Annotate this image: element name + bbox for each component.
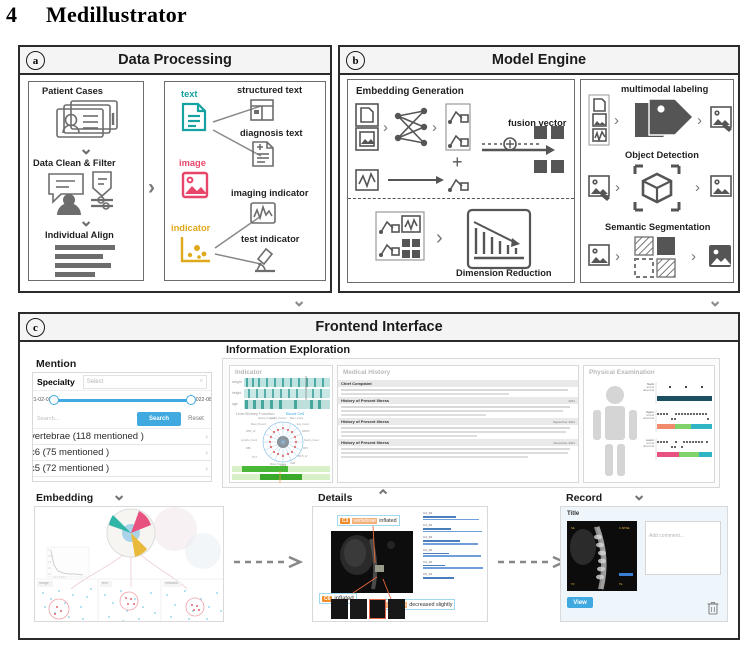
panel-a-badge: a (26, 51, 45, 70)
indicator-title: Indicator (235, 369, 262, 376)
mention-item-1-label: c6 (75 mentioned ) (32, 447, 109, 458)
structured-text-icon (249, 98, 275, 122)
prob-row: C4_S0 (423, 511, 487, 520)
modality-image-label: image (179, 158, 206, 168)
exam-row-2-abnormal: abnormal (640, 445, 654, 448)
figure-root: 4Medillustrator a Data Processing Patien… (0, 0, 750, 645)
embedding-visualization: 1.00.80.6 0.40.2 1 2 3 4 5 6 7 (35, 507, 224, 622)
record-card-title: Title (567, 511, 579, 517)
prob-row-4-label: C4_S0 (423, 560, 487, 564)
history-3-heading: History of Present Illness (341, 440, 389, 445)
svg-text:›: › (615, 248, 620, 265)
svg-text:+: + (452, 152, 463, 172)
indicator-row-0-label: weight (232, 380, 242, 384)
svg-text:RBC: RBC (246, 447, 251, 450)
connector-chevron-left: ⌄ (292, 292, 306, 309)
prob-row: C4_S0 (423, 548, 487, 557)
indicator-card: Indicator weight height (229, 365, 333, 483)
record-panel: Title SEC-SPINE TRTE (560, 506, 728, 622)
mention-panel: Specialty Select ˅ 2021-02-02 2022-08-11… (32, 372, 212, 482)
svg-text:Neutro_Percent: Neutro_Percent (258, 417, 275, 420)
pipeline-chevron-1: ⌄ (79, 212, 93, 229)
section-number: 4 (6, 2, 46, 28)
waveform-icon (249, 201, 277, 225)
list-item[interactable]: c5 (72 mentioned ) › (32, 461, 212, 477)
panel-b-divider (348, 198, 574, 199)
prob-row: C4_S0 (423, 523, 487, 532)
details-collapse-icon[interactable]: ⌃ (376, 488, 390, 505)
specialty-label: Specialty (33, 377, 75, 387)
output-1-label: diagnosis text (240, 128, 303, 138)
date-range-slider[interactable]: 2021-02-02 2022-08-11 (33, 391, 211, 409)
indicator-row-1-label: height (232, 391, 241, 395)
panel-data-processing: a Data Processing Patient Cases ⌄ Data C… (18, 45, 332, 293)
svg-text:Baso_Count: Baso_Count (290, 417, 303, 420)
task-1-label: Object Detection (625, 150, 699, 160)
view-button[interactable]: View (567, 597, 593, 608)
specialty-value: Select (87, 379, 104, 385)
exam-row-0-chart (656, 382, 712, 404)
history-2-heading: History of Present Illness (341, 419, 389, 424)
history-0-body (338, 387, 578, 397)
trash-icon[interactable] (707, 601, 719, 614)
pipeline-to-modalities-chevron: › (148, 177, 155, 198)
information-exploration-panel: Indicator weight height (222, 358, 720, 488)
panel-a-title: Data Processing (118, 52, 232, 68)
history-3-body (338, 446, 578, 460)
record-collapse-icon[interactable]: ⌄ (632, 486, 646, 503)
search-row: Search... Search Reset (33, 410, 211, 429)
svg-text:MPV: MPV (303, 447, 309, 450)
svg-text:Baso_Percent: Baso_Percent (251, 423, 266, 426)
scatter-icon (179, 235, 213, 265)
spine-mri-graphic: SEC-SPINE TRTE (567, 521, 637, 591)
history-2-date: September 2021 (553, 420, 575, 424)
pipeline-step-2-label: Individual Align (45, 230, 114, 240)
exam-row-1-abnormal: abnormal (640, 417, 654, 420)
svg-text:›: › (383, 119, 388, 136)
mention-item-2-label: c5 (72 mentioned ) (32, 463, 109, 474)
body-figure-icon (592, 384, 638, 478)
exam-row-2-chart (656, 438, 712, 460)
radial-indicator-chart: Lymph_PercentBaso_Count Eos_CountRDWS Ne… (240, 416, 326, 468)
svg-text:TE: TE (619, 582, 623, 586)
slider-handle-right[interactable] (186, 395, 196, 405)
svg-text:›: › (691, 248, 696, 265)
green-bar-row-1 (232, 474, 330, 480)
semantic-segmentation-icons: › › (587, 235, 733, 279)
prob-row-2-label: C4_S0 (423, 535, 487, 539)
mention-heading: Mention (36, 358, 76, 370)
thumbnail-selected[interactable] (369, 599, 386, 619)
scatter-label-indicator: indicator (165, 581, 179, 585)
panel-c-header: c Frontend Interface (20, 314, 738, 342)
chevron-right-icon: › (205, 464, 208, 473)
svg-text:›: › (695, 179, 700, 196)
flow-arrow-1 (234, 556, 304, 568)
history-2-body (338, 425, 578, 439)
image-icon (181, 171, 209, 199)
medical-history-title: Medical History (343, 369, 390, 376)
panel-model-engine: b Model Engine Embedding Generation › › (338, 45, 740, 293)
pipeline-step-0-label: Patient Cases (42, 86, 103, 96)
svg-text:Eos_Count: Eos_Count (297, 423, 309, 426)
panel-b-header: b Model Engine (340, 47, 738, 75)
indicator-row-2-label: age (232, 402, 238, 406)
prob-row: C4_S0 (423, 560, 487, 569)
svg-text:SE: SE (571, 526, 575, 530)
exam-row-1-chart (656, 410, 712, 432)
exam-row-0: Neck normal abnormal (640, 382, 712, 392)
fusion-vector-label: fusion vector (508, 118, 566, 128)
embedding-collapse-icon[interactable]: ⌄ (112, 486, 126, 503)
history-3-date: December 2021 (554, 441, 575, 445)
comment-placeholder: Add comment... (649, 533, 684, 539)
svg-text:›: › (436, 227, 443, 249)
flow-arrow-2 (498, 556, 568, 568)
mention-item-0-label: vertebrae (118 mentioned ) (32, 431, 144, 442)
svg-text:›: › (697, 112, 702, 129)
svg-text:RDWS: RDWS (302, 430, 310, 433)
svg-text:HCT: HCT (252, 456, 257, 459)
svg-text:TR: TR (571, 582, 575, 586)
task-2-label: Semantic Segmentation (605, 222, 710, 232)
patient-cards-icon (53, 99, 123, 141)
panel-b-badge: b (346, 51, 365, 70)
svg-text:›: › (432, 119, 437, 136)
dimension-reduction-label: Dimension Reduction (456, 268, 552, 278)
exam-row-0-abnormal: abnormal (640, 389, 654, 392)
prob-row-1-label: C4_S0 (423, 523, 487, 527)
svg-text:Lympho_Count: Lympho_Count (241, 439, 257, 442)
record-heading: Record (566, 492, 602, 504)
reset-button[interactable]: Reset (181, 412, 211, 426)
panel-a-header: a Data Processing (20, 47, 330, 75)
prob-row-5-label: C5_S1 (423, 572, 487, 576)
dimension-reduction-icons: › (374, 210, 564, 274)
svg-text:C-SPINE: C-SPINE (619, 526, 630, 530)
probability-list: C4_S0 C4_S0 C4_S0 C4_S0 (423, 511, 487, 580)
modality-connectors (209, 100, 279, 270)
section-heading: 4Medillustrator (6, 2, 187, 28)
connector-chevron-right: ⌄ (708, 292, 722, 309)
history-0-heading: Chief Complaint (341, 381, 372, 386)
thumbnail[interactable] (350, 599, 367, 619)
modality-box: text image indicator (164, 81, 326, 281)
history-1-heading: History of Present Illness (341, 398, 389, 403)
svg-text:MCH_LV: MCH_LV (298, 455, 308, 458)
comment-textarea[interactable]: Add comment... (645, 521, 721, 575)
specialty-row: Specialty Select ˅ (33, 373, 211, 391)
prob-row-3-label: C4_S0 (423, 548, 487, 552)
medical-history-card: Medical History Chief Complaint History … (337, 365, 579, 483)
modality-text-label: text (181, 89, 198, 99)
panel-c-title: Frontend Interface (315, 319, 442, 335)
history-section-header: Chief Complaint (338, 380, 578, 387)
indicator-heatmap-row-2 (244, 400, 330, 409)
indicator-heatmap-row-1 (244, 389, 330, 398)
dashed-arrow-right-icon (498, 556, 568, 568)
mention-list: vertebrae (118 mentioned ) › c6 (75 ment… (32, 429, 212, 477)
microscope-icon (251, 246, 279, 274)
embedding-panel: 1.00.80.6 0.40.2 1 2 3 4 5 6 7 (34, 506, 224, 622)
history-section-header: History of Present Illness September 202… (338, 418, 578, 425)
chevron-right-icon: › (205, 448, 208, 457)
record-mri-image[interactable]: SEC-SPINE TRTE (567, 521, 637, 591)
svg-text:›: › (614, 112, 619, 129)
object-detection-icons: › › (587, 162, 733, 214)
pipeline-step-1-label: Data Clean & Filter (33, 158, 116, 168)
svg-text:HGB: HGB (290, 462, 296, 465)
physical-exam-card: Physical Examination Neck normal abnorma… (583, 365, 715, 483)
clean-filter-icon (47, 170, 129, 216)
multimodal-labeling-icons: › › (587, 95, 733, 147)
details-panel: C3 vertebrae inflated C6 inflated C7 ann… (312, 506, 488, 622)
list-item[interactable]: c6 (75 mentioned ) › (32, 445, 212, 461)
prob-row: C5_S1 (423, 572, 487, 579)
history-1-body (338, 404, 578, 418)
embedding-generation-box: Embedding Generation › › (347, 79, 575, 283)
pipeline-chevron-0: ⌄ (79, 140, 93, 157)
physical-exam-title: Physical Examination (589, 369, 655, 376)
slider-track[interactable] (53, 399, 192, 402)
pipeline-box: Patient Cases ⌄ Data Clean & Filter (28, 81, 144, 281)
task-0-label: multimodal labeling (621, 84, 708, 94)
slider-handle-left[interactable] (49, 395, 59, 405)
details-heading: Details (318, 492, 352, 504)
list-item[interactable]: vertebrae (118 mentioned ) › (32, 429, 212, 445)
history-section-header: History of Present Illness 2021 (338, 397, 578, 404)
thumbnail[interactable] (388, 599, 405, 619)
exam-row-2: Lower normal abnormal (640, 438, 712, 448)
panel-b-title: Model Engine (492, 52, 586, 68)
thumbnail[interactable] (331, 599, 348, 619)
exam-row-1: Upper normal abnormal (640, 410, 712, 420)
history-section-header: History of Present Illness December 2021 (338, 439, 578, 446)
scatter-label-image: image (39, 581, 49, 585)
scatter-label-text: text (102, 581, 108, 585)
panel-c-badge: c (26, 318, 45, 337)
align-bars-icon (55, 244, 119, 278)
indicator-heatmap-row-0 (244, 378, 330, 387)
text-doc-icon (181, 102, 207, 132)
chevron-right-icon: › (205, 432, 208, 441)
search-input[interactable]: Search... (33, 416, 137, 422)
history-1-date: 2021 (568, 399, 575, 403)
diagnosis-doc-icon (251, 140, 275, 168)
svg-text:›: › (615, 179, 620, 196)
output-0-label: structured text (237, 85, 302, 95)
embedding-heading: Embedding (36, 492, 93, 504)
svg-text:WBC_LV: WBC_LV (246, 430, 256, 433)
svg-text:1 2 3 4 5 6 7: 1 2 3 4 5 6 7 (53, 576, 67, 579)
output-3-label: test indicator (241, 234, 299, 244)
information-exploration-heading: Information Exploration (226, 344, 350, 356)
specialty-select[interactable]: Select ˅ (83, 375, 207, 389)
medical-history-sections: Chief Complaint History of Present Illne… (338, 380, 578, 460)
chevron-down-icon: ˅ (199, 379, 203, 385)
search-button[interactable]: Search (137, 412, 181, 426)
panel-frontend-interface: c Frontend Interface Mention Specialty S… (18, 312, 740, 640)
prob-row: C4_S0 (423, 535, 487, 544)
prob-row-0-label: C4_S0 (423, 511, 487, 515)
thumbnail-strip[interactable] (331, 599, 405, 619)
embedding-generation-title: Embedding Generation (356, 86, 464, 97)
downstream-tasks-box: multimodal labeling › › Object Detection (580, 79, 734, 283)
green-bar-row-0 (232, 466, 330, 472)
modality-indicator-label: indicator (171, 223, 210, 233)
svg-text:Neutro_Count: Neutro_Count (304, 439, 319, 442)
output-2-label: imaging indicator (231, 188, 308, 198)
section-title: Medillustrator (46, 2, 187, 27)
dashed-arrow-right-icon (234, 556, 304, 568)
